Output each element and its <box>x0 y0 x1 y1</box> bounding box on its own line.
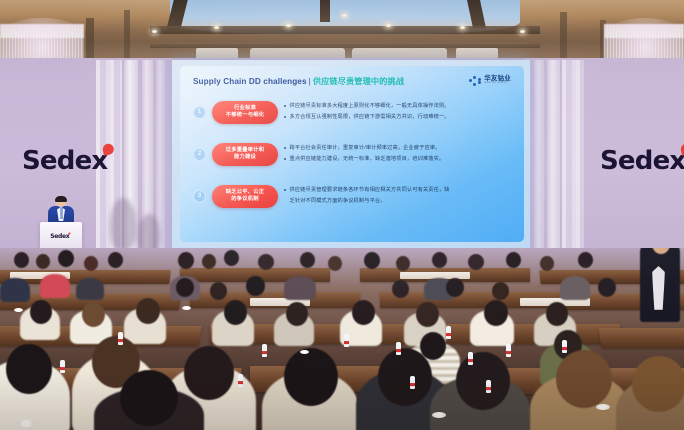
downlight <box>520 30 525 33</box>
attendee-head <box>246 276 265 296</box>
water-bottle <box>262 344 267 357</box>
sedex-wordmark-left: Sedex <box>22 146 107 176</box>
attendee-head <box>30 300 52 324</box>
bullet-text: 跨平台社会责任审计，重复审计/审计频率过高，企业疲于应审。 <box>290 145 441 153</box>
bullet-item: 乏针对不同模式方面的争议机制与平台。 <box>284 198 511 206</box>
attendee-head <box>136 298 160 324</box>
attendee-head <box>506 252 521 268</box>
bullet-item: 重点供应链能力建设，无统一标准，缺乏落地项目，培训难落实。 <box>284 156 511 164</box>
attendee-head <box>36 254 50 269</box>
bullet-dot-icon <box>284 105 286 107</box>
water-bottle <box>468 352 473 365</box>
row-bullets: 跨平台社会责任审计，重复审计/审计频率过高，企业疲于应审。 重点供应链能力建设，… <box>284 145 511 163</box>
attendee-head <box>364 252 380 269</box>
water-bottle <box>562 340 567 353</box>
bullet-text: 重点供应链能力建设，无统一标准，缺乏落地项目，培训难落实。 <box>290 156 445 164</box>
attendee-head <box>396 256 410 271</box>
slide-row: 2 过多重叠审计和 能力建设 跨平台社会责任审计，重复审计/审计频率过高，企业疲… <box>193 136 511 172</box>
downlight <box>342 14 347 17</box>
pill-line-1: 缺乏公平、公正 <box>226 189 264 196</box>
attendee-body <box>284 276 316 300</box>
slide-title: Supply Chain DD challenges|供应链尽责管理中的挑战 <box>193 75 404 87</box>
silhouette-figure <box>110 198 136 250</box>
bullet-item: 供应链尽责标准多大程度上原则化不够细化，一般无具体操作法则。 <box>284 103 511 111</box>
bullet-dot-icon <box>284 147 286 149</box>
attendee-head <box>416 302 439 327</box>
bullet-dot-icon <box>284 116 286 118</box>
partner-logo-text: 华友钴业 HUAYOU COBALT <box>484 76 511 85</box>
table-plate <box>182 306 191 310</box>
slide-header: Supply Chain DD challenges|供应链尽责管理中的挑战 华… <box>193 75 511 87</box>
row-bullets: 供应链尽责标准多大程度上原则化不够细化，一般无具体操作法则。 多方合规互认强制性… <box>284 103 511 121</box>
attendee-head <box>58 250 74 267</box>
attendee-head <box>210 282 227 300</box>
attendee-head <box>484 300 508 326</box>
attendee-head <box>446 278 464 297</box>
ceiling-beam <box>320 0 330 22</box>
standing-attendee-shirt <box>652 266 665 310</box>
slide-title-separator: | <box>309 77 311 86</box>
attendee-head <box>392 280 409 298</box>
downlight <box>214 26 219 29</box>
row-number-badge: 2 <box>193 148 206 161</box>
attendee-head <box>82 302 105 327</box>
downlight <box>152 30 157 33</box>
partner-logo: 华友钴业 HUAYOU COBALT <box>469 75 511 86</box>
pill-line-2: 不够统一与细化 <box>226 112 264 119</box>
slide-title-english: Supply Chain DD challenges <box>193 77 307 86</box>
pill-line-2: 能力建设 <box>234 154 256 161</box>
slide-row: 3 缺乏公平、公正 的争议机制 供应链尽责管理要求链条各环节有相应相关方共同认可… <box>193 178 511 214</box>
pill-line-1: 行业标准 <box>234 105 256 112</box>
attendee-head <box>176 278 194 297</box>
water-bottle <box>396 342 401 355</box>
bullet-item: 跨平台社会责任审计，重复审计/审计频率过高，企业疲于应审。 <box>284 145 511 153</box>
pillar <box>547 60 560 258</box>
presentation-slide: Supply Chain DD challenges|供应链尽责管理中的挑战 华… <box>180 66 524 242</box>
curtain-panel <box>562 60 584 260</box>
downlight <box>386 24 391 27</box>
attendee-head <box>540 256 554 271</box>
banquet-table <box>599 328 684 348</box>
row-pill-label: 行业标准 不够统一与细化 <box>212 101 278 124</box>
attendee-head <box>546 302 568 326</box>
pillar <box>534 60 544 256</box>
bullet-dot-icon <box>284 200 286 202</box>
slide-content-rows: 1 行业标准 不够统一与细化 供应链尽责标准多大程度上原则化不够细化，一般无具体… <box>193 94 511 214</box>
row-number-badge: 3 <box>193 190 206 203</box>
water-bottle <box>118 332 123 345</box>
foreground-vignette <box>0 370 684 430</box>
water-bottle <box>446 326 451 339</box>
bullet-text: 多方合规互认强制性局限，供应链下游需相关方共识，行动难统一。 <box>290 114 450 122</box>
bullet-dot-icon <box>284 189 286 191</box>
pill-line-2: 的争议机制 <box>231 196 259 203</box>
attendee-body <box>76 278 104 300</box>
row-pill-label: 过多重叠审计和 能力建设 <box>212 143 278 166</box>
huayou-mark-icon <box>469 75 482 86</box>
podium-sedex-logo: Sedex <box>50 233 72 240</box>
attendee-head <box>352 300 375 325</box>
water-bottle <box>344 334 349 347</box>
attendee-head <box>14 252 29 268</box>
bullet-text: 供应链尽责标准多大程度上原则化不够细化，一般无具体操作法则。 <box>290 103 450 111</box>
attendee-head <box>178 252 194 269</box>
attendee-body <box>0 278 30 302</box>
attendee-head <box>286 302 308 326</box>
podium: Sedex <box>40 222 82 250</box>
row-pill-label: 缺乏公平、公正 的争议机制 <box>212 185 278 208</box>
attendee-head <box>598 278 616 297</box>
attendee-head <box>300 252 315 268</box>
attendee-head <box>202 254 216 269</box>
slide-row: 1 行业标准 不够统一与细化 供应链尽责标准多大程度上原则化不够细化，一般无具体… <box>193 94 511 130</box>
attendee-head <box>84 256 98 271</box>
water-bottle <box>506 344 511 357</box>
sedex-wall-logo-right: Sedex <box>600 148 684 174</box>
podium-wordmark: Sedex <box>50 233 69 240</box>
partner-name-en: HUAYOU COBALT <box>484 82 511 85</box>
attendee-head <box>578 252 593 268</box>
pill-line-1: 过多重叠审计和 <box>226 147 264 154</box>
attendee-body <box>560 276 590 300</box>
attendee-head <box>224 250 239 266</box>
attendee-head <box>108 252 123 268</box>
speaker-figure <box>46 197 76 225</box>
audience-area <box>0 248 684 430</box>
sedex-wordmark-right: Sedex <box>600 146 684 176</box>
slide-title-chinese: 供应链尽责管理中的挑战 <box>313 77 404 86</box>
downlight <box>286 24 291 27</box>
ceiling-beam <box>150 26 540 34</box>
attendee-head <box>492 282 509 300</box>
sedex-wall-logo-left: Sedex <box>22 148 119 174</box>
table-plate <box>300 350 309 354</box>
bullet-dot-icon <box>284 158 286 160</box>
speaker-hair <box>55 196 67 202</box>
row-bullets: 供应链尽责管理要求链条各环节有相应相关方共同认可有关责任，缺 乏针对不同模式方面… <box>284 187 511 205</box>
speaker-tie <box>60 208 63 219</box>
conference-photo: Sedex Sedex Supply Chain DD challenges|供… <box>0 0 684 430</box>
downlight <box>460 26 465 29</box>
table-plate <box>14 308 23 312</box>
attendee-head <box>432 252 447 268</box>
attendee-head <box>328 256 342 271</box>
attendee-head <box>258 254 274 270</box>
row-number-badge: 1 <box>193 106 206 119</box>
attendee-body <box>40 274 70 298</box>
bullet-text: 乏针对不同模式方面的争议机制与平台。 <box>290 198 386 206</box>
attendee-head <box>468 254 484 270</box>
bullet-item: 供应链尽责管理要求链条各环节有相应相关方共同认可有关责任，缺 <box>284 187 511 195</box>
bullet-item: 多方合规互认强制性局限，供应链下游需相关方共识，行动难统一。 <box>284 114 511 122</box>
bullet-text: 供应链尽责管理要求链条各环节有相应相关方共同认可有关责任，缺 <box>290 187 450 195</box>
attendee-head <box>224 300 247 325</box>
